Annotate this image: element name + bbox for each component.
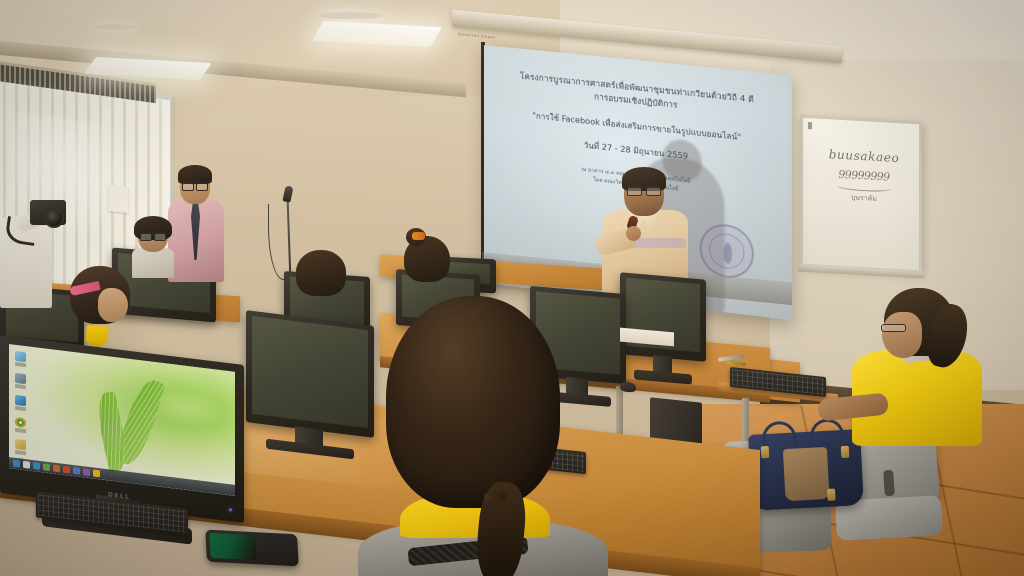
- handbag[interactable]: [748, 429, 864, 511]
- computer-mouse[interactable]: [620, 381, 636, 392]
- taskbar-icon-explorer[interactable]: [23, 461, 30, 469]
- glasses-icon: [182, 182, 208, 188]
- foreground-woman: [368, 296, 598, 576]
- woman-with-glasses: [132, 216, 174, 272]
- desktop-icon-computer[interactable]: Computer: [15, 351, 26, 367]
- whiteboard-word: buusakaeo: [803, 146, 925, 167]
- ceiling-light-recessed: [92, 24, 136, 30]
- monitor-front-second: [246, 310, 374, 438]
- wall-notice-paper: [108, 185, 128, 213]
- woman-back-row: [296, 250, 346, 296]
- monitor-mid-right: [620, 272, 706, 362]
- taskbar-icon-app[interactable]: [93, 469, 100, 477]
- whiteboard-corner-mark: [808, 122, 812, 129]
- hair-clip-icon: [412, 232, 425, 240]
- handbag-stud: [841, 446, 850, 458]
- smartphone[interactable]: [205, 530, 299, 567]
- taskbar-icon-app[interactable]: [53, 465, 60, 473]
- yellow-blouse-woman: [862, 288, 1002, 488]
- monitor-screen-off: [252, 316, 368, 428]
- man-with-tie: [168, 168, 224, 280]
- handbag-stud: [761, 446, 770, 458]
- whiteboard-writing: buusakaeo 99999999 บุษราคัม: [803, 146, 925, 208]
- desktop-icon-internet-explorer[interactable]: Internet Exp: [15, 395, 26, 411]
- handbag-flap: [783, 447, 830, 501]
- desktop-icon-chrome[interactable]: Chrome: [15, 417, 26, 433]
- monitor-screen-active[interactable]: Computer Recycle Bin Internet Exp Chrome…: [9, 344, 235, 496]
- taskbar-icon-start[interactable]: [13, 460, 20, 468]
- smartphone-screen[interactable]: [209, 533, 256, 561]
- woman-hair-bun: [400, 228, 454, 282]
- desktop-icon-recycle-bin[interactable]: Recycle Bin: [15, 373, 26, 389]
- woman-back-hair: [296, 250, 346, 296]
- desktop-icon-documents[interactable]: Documents: [15, 439, 26, 455]
- glasses-icon: [881, 324, 906, 332]
- taskbar-icon-app[interactable]: [43, 463, 50, 471]
- woman-face: [882, 312, 922, 358]
- camera-lens-icon: [44, 208, 64, 228]
- hair-tie: [484, 492, 506, 501]
- photographer: [0, 196, 60, 306]
- whiteboard[interactable]: buusakaeo 99999999 บุษราคัม: [800, 115, 922, 274]
- glasses-icon: [627, 186, 661, 193]
- whiteboard-brace: [837, 182, 891, 193]
- classroom-photo: buusakaeo 99999999 บุษราคัม Motorized Sc…: [0, 0, 1024, 576]
- glasses-icon: [140, 232, 166, 238]
- power-led-icon: [229, 508, 232, 511]
- presenter-hand: [626, 226, 641, 241]
- woman-glasses-body: [132, 248, 174, 278]
- ceiling-light-recessed: [318, 12, 384, 19]
- taskbar-icon-app[interactable]: [73, 467, 80, 475]
- taskbar-icon-app[interactable]: [63, 466, 70, 474]
- whiteboard-thai-note: บุษราคัม: [803, 190, 925, 208]
- woman-headband-face: [98, 288, 128, 322]
- taskbar-icon-app[interactable]: [83, 468, 90, 476]
- foreground-woman-hair: [386, 296, 560, 508]
- handbag-stud: [827, 489, 836, 501]
- taskbar-icon-browser[interactable]: [33, 462, 40, 470]
